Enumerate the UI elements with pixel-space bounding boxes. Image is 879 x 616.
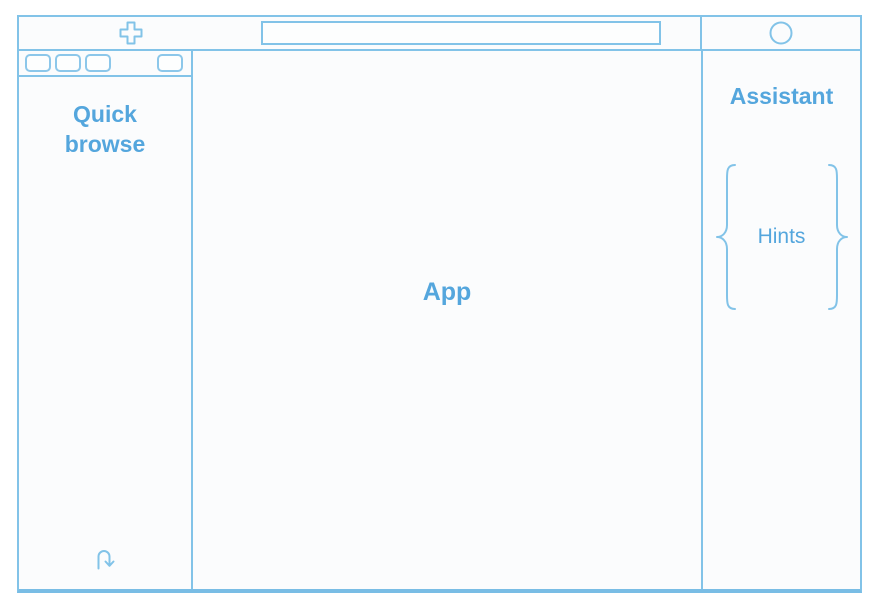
app-canvas: App xyxy=(193,51,703,589)
u-turn-arrow-icon[interactable] xyxy=(90,544,120,579)
new-tab-area[interactable] xyxy=(19,17,243,49)
sidebar-tool-button-2[interactable] xyxy=(55,54,81,72)
assistant-panel: Assistant Hints xyxy=(703,51,860,589)
assistant-title: Assistant xyxy=(730,83,834,110)
wireframe-window: Quick browse App Assistant xyxy=(17,15,862,593)
sidebar-tool-button-3[interactable] xyxy=(85,54,111,72)
account-area[interactable] xyxy=(700,17,860,49)
sidebar-tool-button-1[interactable] xyxy=(25,54,51,72)
window-body: Quick browse App Assistant xyxy=(17,51,862,593)
right-curly-brace-icon xyxy=(824,163,850,316)
address-bar-area xyxy=(243,17,700,49)
address-input[interactable] xyxy=(261,21,661,45)
sidebar-toolbar xyxy=(19,51,191,77)
title-bar xyxy=(17,15,862,51)
plus-icon[interactable] xyxy=(117,19,145,47)
sidebar-title: Quick browse xyxy=(19,99,191,160)
sidebar: Quick browse xyxy=(19,51,193,589)
app-label: App xyxy=(423,278,472,307)
sidebar-footer xyxy=(19,544,191,579)
hints-block: Hints xyxy=(712,163,852,311)
left-curly-brace-icon xyxy=(714,163,740,316)
circle-icon[interactable] xyxy=(768,20,794,46)
hints-label: Hints xyxy=(758,225,806,249)
sidebar-tool-button-4[interactable] xyxy=(157,54,183,72)
